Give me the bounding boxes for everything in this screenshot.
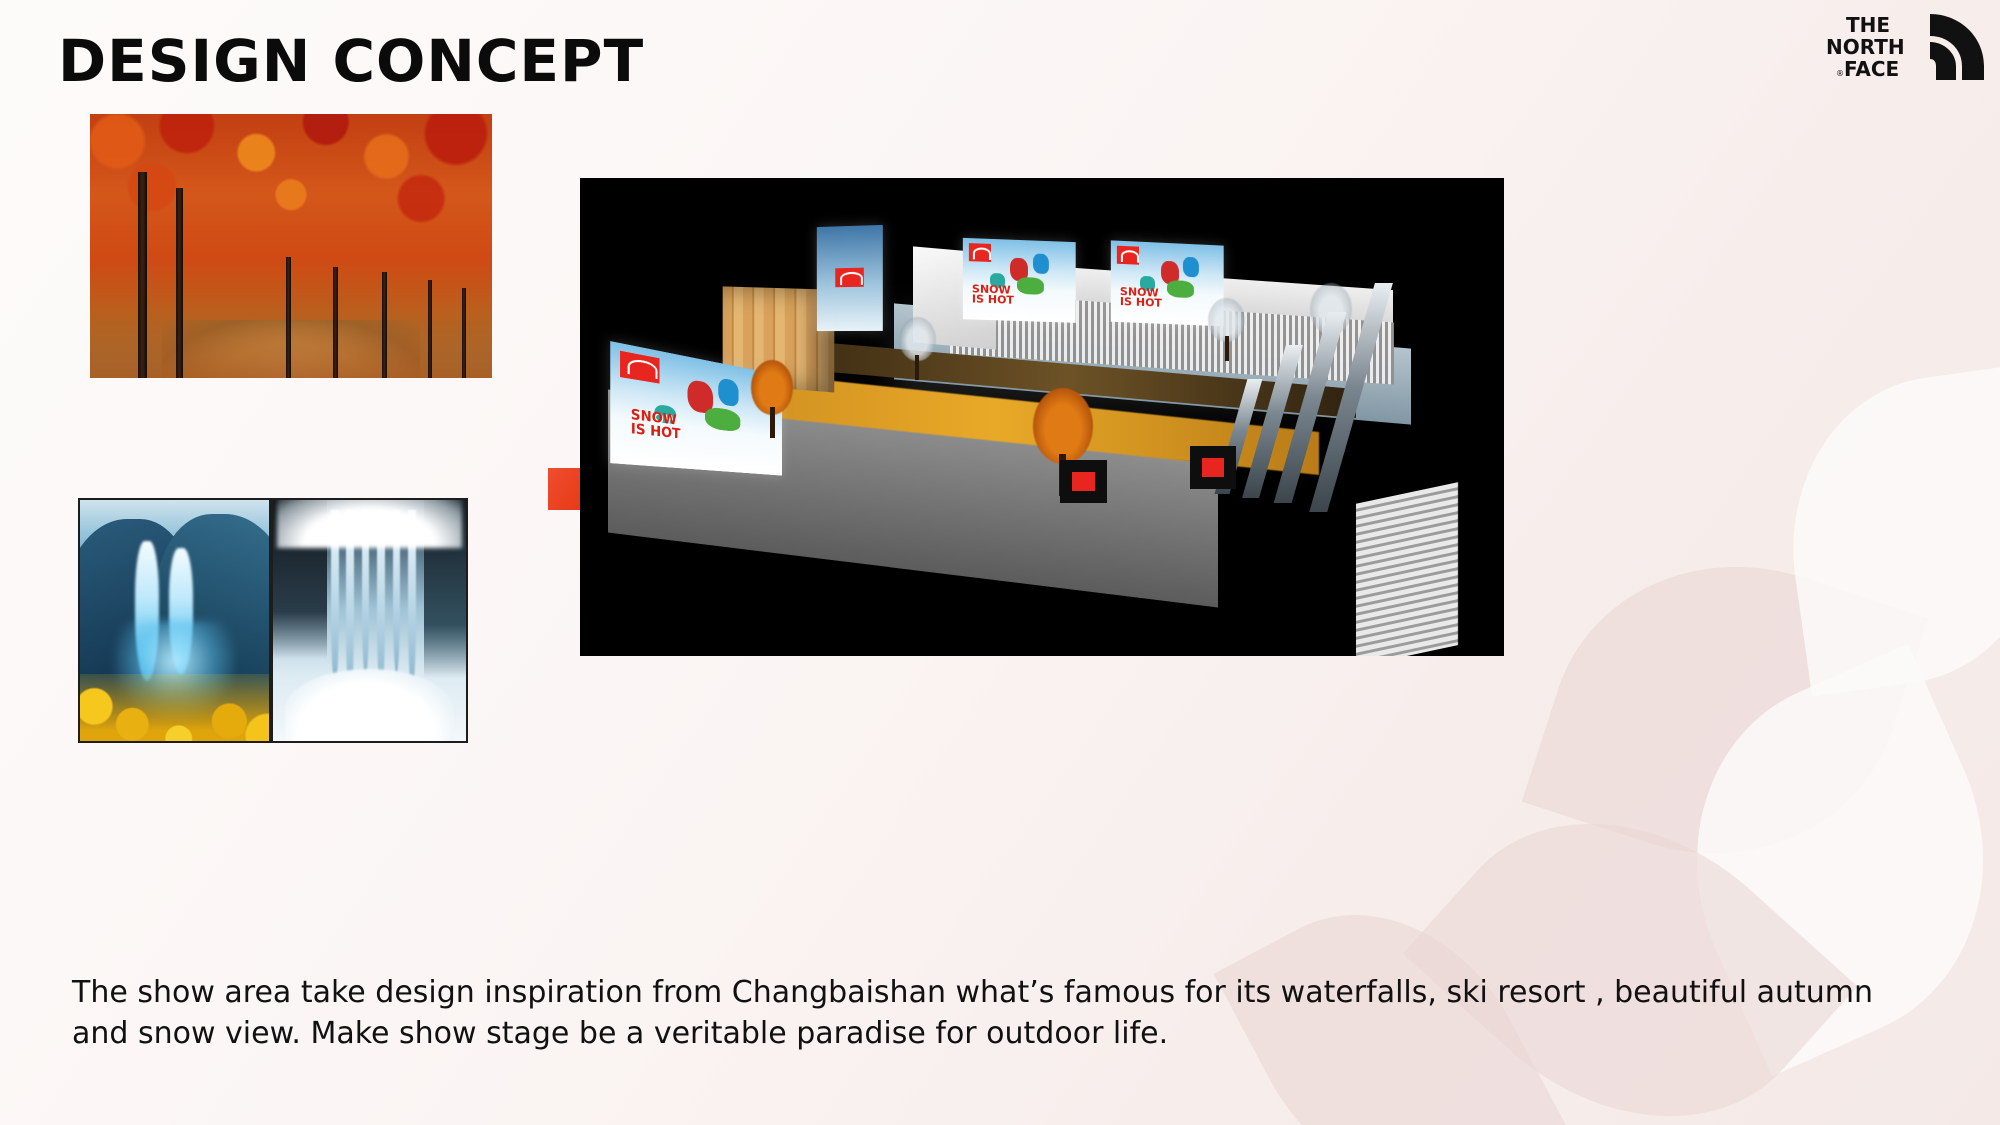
forest-tree-trunk [286,257,291,378]
screen-headline: SNOW IS HOT [630,409,680,441]
screen-rider [1183,256,1199,276]
render-bare-tree [899,317,936,379]
screen-rider [1168,280,1195,297]
tnf-badge-icon [1202,458,1224,477]
forest-tree-trunk [333,267,338,378]
page-title: DESIGN CONCEPT [58,32,644,90]
render-bare-tree [1208,298,1245,360]
tnf-badge-icon [969,243,992,262]
forest-tree-trunk [382,272,387,378]
logo-line-north: NORTH [1826,35,1905,59]
logo-registered-mark: ® [1836,69,1844,78]
screen-headline: SNOW IS HOT [1120,286,1162,309]
forest-tree-trunk [462,288,466,378]
render-logo-wall [1190,446,1236,489]
watermark-petal [1770,363,2000,696]
logo-line-the: THE [1846,13,1890,37]
tnf-badge-icon [1117,245,1140,264]
stage-3d-render: SNOW IS HOT SNOW IS HOT SNOW IS HOT [580,178,1504,656]
screen-rider [1018,277,1045,294]
center-screen-2: SNOW IS HOT [1111,240,1224,326]
frozen-waterfall-photo [271,498,468,743]
the-north-face-logo: THE NORTH FACE ® [1822,8,1992,86]
tnf-badge-icon [1072,472,1094,491]
frozen-snow-cap [277,498,462,548]
screen-headline: SNOW IS HOT [972,284,1014,306]
forest-tree-trunk [138,172,147,378]
center-screen-1: SNOW IS HOT [963,238,1076,323]
waterfall-golden-foliage [78,674,271,743]
frozen-snow-mound [285,669,455,743]
slide-caption: The show area take design inspiration fr… [72,972,1882,1055]
forest-tree-trunk [428,280,432,378]
render-logo-wall [1060,460,1106,503]
render-stairs [1356,483,1458,656]
autumn-waterfall-photo [78,498,271,743]
waterfall-photo-group [78,498,468,743]
forest-tree-trunk [176,188,183,378]
tnf-badge-icon [835,268,864,287]
screen-rider [1033,254,1049,274]
render-autumn-tree [751,360,794,436]
autumn-forest-photo [90,114,492,378]
forest-canopy [90,114,492,294]
logo-line-face: FACE [1844,57,1899,81]
mountain-banner-screen [816,225,882,331]
